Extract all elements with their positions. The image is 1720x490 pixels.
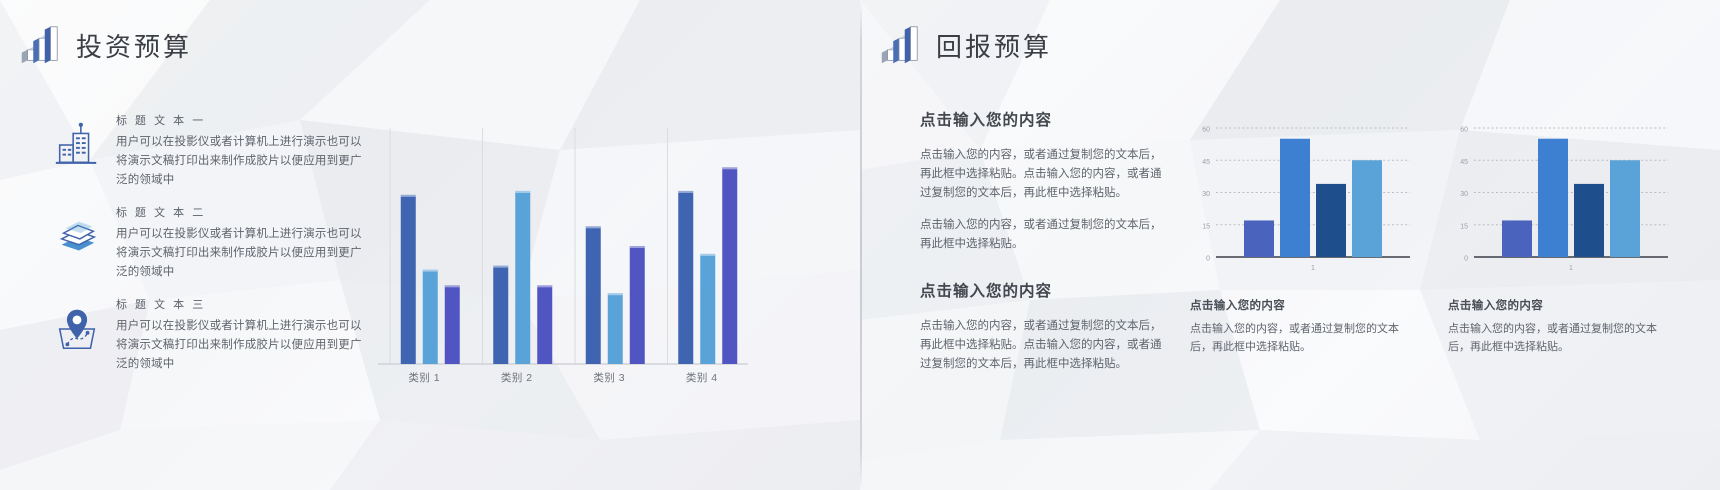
svg-text:45: 45 [1202, 159, 1210, 166]
svg-text:30: 30 [1460, 191, 1468, 198]
svg-text:60: 60 [1202, 127, 1210, 134]
x-tick-label: 类别 1 [378, 370, 471, 385]
page-title: 投资预算 [76, 27, 192, 64]
svg-text:1: 1 [1569, 265, 1573, 272]
right-slide-header: 回报预算 [876, 22, 1052, 68]
svg-text:1: 1 [1311, 265, 1315, 272]
list-item[interactable]: 标 题 文 本 二 用户可以在投影仪或者计算机上进行演示也可以将演示文稿打印出来… [52, 204, 362, 292]
slide-deck: 投资预算 [0, 0, 1720, 490]
section-paragraph: 点击输入您的内容，或者通过复制您的文本后，再此框中选择粘贴。点击输入您的内容，或… [920, 146, 1172, 203]
mini-chart-block: 0153045601 点击输入您的内容 点击输入您的内容，或者通过复制您的文本后… [1448, 118, 1674, 356]
svg-text:15: 15 [1460, 223, 1468, 230]
bar-chart-canvas [378, 118, 748, 368]
caption-heading: 点击输入您的内容 [1448, 297, 1674, 313]
list-item-title: 标 题 文 本 一 [116, 112, 362, 128]
mini-chart-caption: 点击输入您的内容 点击输入您的内容，或者通过复制您的文本后，再此框中选择粘贴。 [1448, 297, 1674, 356]
section-paragraph: 点击输入您的内容，或者通过复制您的文本后，再此框中选择粘贴。 [920, 216, 1172, 254]
list-item-title: 标 题 文 本 二 [116, 204, 362, 220]
feature-list: 标 题 文 本 一 用户可以在投影仪或者计算机上进行演示也可以将演示文稿打印出来… [52, 112, 362, 388]
section-heading: 点击输入您的内容 [920, 279, 1172, 301]
page-title: 回报预算 [936, 27, 1052, 64]
mini-chart-block: 0153045601 点击输入您的内容 点击输入您的内容，或者通过复制您的文本后… [1190, 118, 1416, 356]
chart-x-axis-labels: 类别 1 类别 2 类别 3 类别 4 [378, 370, 748, 385]
left-slide-header: 投资预算 [16, 22, 192, 68]
list-item[interactable]: 标 题 文 本 一 用户可以在投影仪或者计算机上进行演示也可以将演示文稿打印出来… [52, 112, 362, 200]
svg-text:0: 0 [1464, 256, 1468, 263]
svg-text:15: 15 [1202, 223, 1210, 230]
stacked-papers-icon [52, 212, 102, 262]
caption-heading: 点击输入您的内容 [1190, 297, 1416, 313]
map-pin-icon [52, 304, 102, 354]
x-tick-label: 类别 4 [656, 370, 749, 385]
svg-text:60: 60 [1460, 127, 1468, 134]
investment-budget-chart: 类别 1 类别 2 类别 3 类别 4 [378, 118, 748, 368]
svg-text:45: 45 [1460, 159, 1468, 166]
x-tick-label: 类别 2 [471, 370, 564, 385]
list-item-body: 用户可以在投影仪或者计算机上进行演示也可以将演示文稿打印出来制作成胶片以便应用到… [116, 225, 362, 282]
slide-return-budget: 回报预算 点击输入您的内容 点击输入您的内容，或者通过复制您的文本后，再此框中选… [860, 0, 1720, 490]
bar-chart-3d-icon [876, 22, 922, 68]
mini-chart-group: 0153045601 点击输入您的内容 点击输入您的内容，或者通过复制您的文本后… [1190, 118, 1690, 356]
slide-investment-budget: 投资预算 [0, 0, 860, 490]
mini-chart-caption: 点击输入您的内容 点击输入您的内容，或者通过复制您的文本后，再此框中选择粘贴。 [1190, 297, 1416, 356]
return-budget-chart-2: 0153045601 [1448, 118, 1674, 283]
spacer [920, 267, 1172, 279]
section-paragraph: 点击输入您的内容，或者通过复制您的文本后，再此框中选择粘贴。点击输入您的内容，或… [920, 317, 1172, 374]
list-item-body: 用户可以在投影仪或者计算机上进行演示也可以将演示文稿打印出来制作成胶片以便应用到… [116, 317, 362, 374]
x-tick-label: 类别 3 [563, 370, 656, 385]
list-item-title: 标 题 文 本 三 [116, 296, 362, 312]
list-item[interactable]: 标 题 文 本 三 用户可以在投影仪或者计算机上进行演示也可以将演示文稿打印出来… [52, 296, 362, 384]
svg-text:30: 30 [1202, 191, 1210, 198]
building-icon [52, 120, 102, 170]
bar-chart-3d-icon [16, 22, 62, 68]
list-item-body: 用户可以在投影仪或者计算机上进行演示也可以将演示文稿打印出来制作成胶片以便应用到… [116, 133, 362, 190]
return-budget-chart-1: 0153045601 [1190, 118, 1416, 283]
right-text-column: 点击输入您的内容 点击输入您的内容，或者通过复制您的文本后，再此框中选择粘贴。点… [920, 108, 1172, 387]
caption-body: 点击输入您的内容，或者通过复制您的文本后，再此框中选择粘贴。 [1448, 320, 1674, 356]
section-heading: 点击输入您的内容 [920, 108, 1172, 130]
slide-divider [860, 0, 862, 490]
svg-text:0: 0 [1206, 256, 1210, 263]
caption-body: 点击输入您的内容，或者通过复制您的文本后，再此框中选择粘贴。 [1190, 320, 1416, 356]
